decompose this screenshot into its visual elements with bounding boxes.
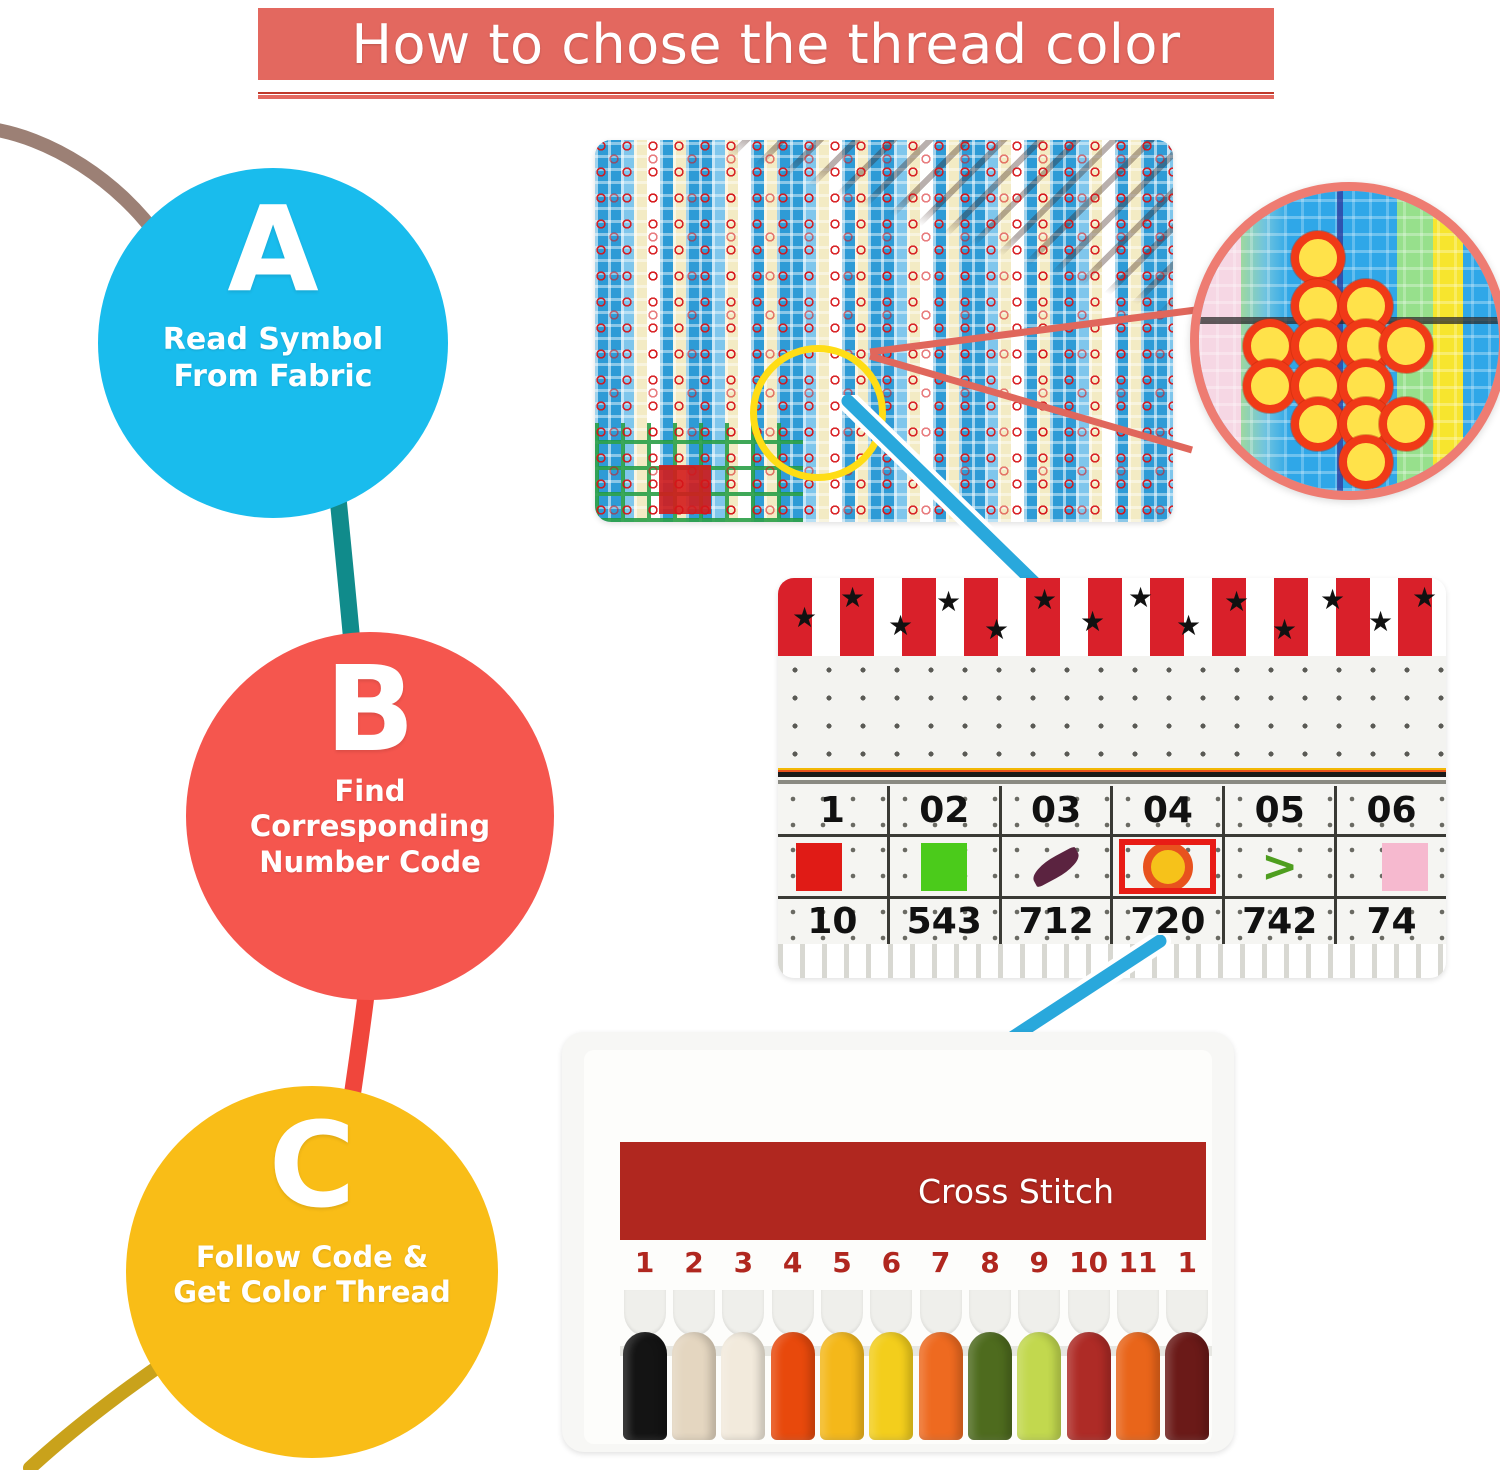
- step-c-label-line2: Get Color Thread: [173, 1275, 451, 1310]
- thread-number: 3: [719, 1246, 768, 1292]
- skein-body: [1017, 1332, 1061, 1440]
- magnifier-symbol-o-icon: [1291, 397, 1345, 451]
- step-b-label: Find Corresponding Number Code: [234, 774, 506, 880]
- star-icon: ★: [984, 616, 1009, 644]
- star-icon: ★: [1320, 586, 1345, 614]
- thread-skein[interactable]: [1163, 1332, 1212, 1440]
- chart-column[interactable]: 1 10: [778, 786, 890, 944]
- magnifier-symbol-o-icon: [1243, 359, 1297, 413]
- slot-hole-icon: [969, 1290, 1011, 1336]
- star-icon: ★: [936, 588, 961, 616]
- thread-skein[interactable]: [669, 1332, 718, 1440]
- thread-number: 11: [1113, 1246, 1162, 1292]
- thread-card-banner-label: Cross Stitch: [918, 1172, 1114, 1211]
- skein-body: [1116, 1332, 1160, 1440]
- star-icon: ★: [1032, 586, 1057, 614]
- chart-col-number: 05: [1225, 786, 1334, 837]
- star-icon: ★: [792, 604, 817, 632]
- thread-number: 9: [1015, 1246, 1064, 1292]
- slot-hole-icon: [624, 1290, 666, 1336]
- thread-skein[interactable]: [817, 1332, 866, 1440]
- chart-col-number: 1: [778, 786, 887, 837]
- skein-body: [623, 1332, 667, 1440]
- thread-skein[interactable]: [1113, 1332, 1162, 1440]
- magnifier-symbol-o-icon: [1339, 435, 1393, 489]
- color-code-chart-panel: ★ ★ ★ ★ ★ ★ ★ ★ ★ ★ ★ ★ ★ ★ 1 10 02 543: [778, 578, 1446, 978]
- thread-number-row: 1 2 3 4 5 6 7 8 9 10 11 1: [620, 1246, 1212, 1292]
- skein-body: [919, 1332, 963, 1440]
- thread-skein[interactable]: [867, 1332, 916, 1440]
- thread-number: 5: [817, 1246, 866, 1292]
- chart-col-symbol: >: [1225, 837, 1334, 899]
- chart-col-symbol: [1002, 837, 1111, 899]
- thread-card: Cross Stitch 1 2 3 4 5 6 7 8 9 10 11 1: [584, 1050, 1212, 1444]
- chart-column[interactable]: 06 74: [1337, 786, 1446, 944]
- thread-card-panel: Cross Stitch 1 2 3 4 5 6 7 8 9 10 11 1: [562, 1032, 1234, 1452]
- magnifier-bubble: [1190, 182, 1500, 500]
- color-swatch-icon: [1382, 843, 1428, 891]
- thread-skein[interactable]: [1015, 1332, 1064, 1440]
- color-swatch-icon: [921, 843, 967, 891]
- chart-col-symbol: [1113, 837, 1222, 899]
- thread-skein[interactable]: [768, 1332, 817, 1440]
- chart-col-symbol: [778, 837, 887, 899]
- chart-column[interactable]: 05 > 742: [1225, 786, 1337, 944]
- skein-body: [869, 1332, 913, 1440]
- step-a-label: Read Symbol From Fabric: [147, 322, 399, 395]
- thread-skein[interactable]: [1064, 1332, 1113, 1440]
- step-b-label-line1: Find: [250, 774, 490, 809]
- step-c-letter: C: [269, 1106, 356, 1224]
- thread-skein[interactable]: [916, 1332, 965, 1440]
- thread-number: 6: [867, 1246, 916, 1292]
- chart-col-symbol: [890, 837, 999, 899]
- star-icon: ★: [1272, 616, 1297, 644]
- thread-skein[interactable]: [965, 1332, 1014, 1440]
- chart-col-number: 06: [1337, 786, 1446, 837]
- star-icon: ★: [1224, 588, 1249, 616]
- skein-body: [672, 1332, 716, 1440]
- slot-hole-icon: [1068, 1290, 1110, 1336]
- step-a-label-line1: Read Symbol: [163, 322, 383, 359]
- step-circle-c[interactable]: C Follow Code & Get Color Thread: [126, 1086, 498, 1458]
- page-title-banner: How to chose the thread color: [258, 8, 1274, 80]
- skein-body: [771, 1332, 815, 1440]
- step-a-label-line2: From Fabric: [163, 359, 383, 396]
- thread-number: 1: [620, 1246, 669, 1292]
- chart-divider: [778, 768, 1446, 777]
- star-icon: ★: [1080, 608, 1105, 636]
- skein-body: [968, 1332, 1012, 1440]
- thread-number: 1: [1163, 1246, 1212, 1292]
- chart-divider-thin: [778, 780, 1446, 784]
- thread-number: 8: [965, 1246, 1014, 1292]
- thread-number: 7: [916, 1246, 965, 1292]
- chart-col-symbol: [1337, 837, 1446, 899]
- slot-hole-icon: [1166, 1290, 1208, 1336]
- skein-body: [1067, 1332, 1111, 1440]
- slot-hole-icon: [1117, 1290, 1159, 1336]
- skein-body: [1165, 1332, 1209, 1440]
- star-icon: ★: [1412, 584, 1437, 612]
- slot-hole-icon: [821, 1290, 863, 1336]
- star-icon: ★: [1128, 584, 1153, 612]
- chart-column[interactable]: 02 543: [890, 786, 1002, 944]
- page-title: How to chose the thread color: [351, 13, 1180, 76]
- star-icon: ★: [1176, 612, 1201, 640]
- slot-hole-icon: [673, 1290, 715, 1336]
- step-c-label-line1: Follow Code &: [173, 1240, 451, 1275]
- star-icon: ★: [840, 584, 865, 612]
- chart-column-highlighted[interactable]: 04 720: [1113, 786, 1225, 944]
- thread-number: 2: [669, 1246, 718, 1292]
- chart-col-code: 742: [1225, 899, 1334, 944]
- star-icon: ★: [1368, 608, 1393, 636]
- color-swatch-icon: [796, 843, 842, 891]
- step-b-label-line3: Number Code: [250, 845, 490, 880]
- chart-code-grid: 1 10 02 543 03 712 04 72: [778, 786, 1446, 944]
- chart-col-number: 04: [1113, 786, 1222, 837]
- slot-hole-icon: [920, 1290, 962, 1336]
- thread-skein[interactable]: [620, 1332, 669, 1440]
- selected-symbol-highlight-box: [1119, 839, 1216, 894]
- chart-blank-grid-area: [778, 656, 1446, 768]
- step-a-letter: A: [227, 190, 318, 308]
- magnifier-symbol-o-icon: [1379, 319, 1433, 373]
- step-circle-a[interactable]: A Read Symbol From Fabric: [98, 168, 448, 518]
- thread-number: 10: [1064, 1246, 1113, 1292]
- magnifier-symbol-o-icon: [1291, 231, 1345, 285]
- step-b-label-line2: Corresponding: [250, 809, 490, 844]
- chevron-symbol-icon: >: [1261, 845, 1298, 889]
- step-b-letter: B: [325, 650, 415, 768]
- thread-card-banner: Cross Stitch: [620, 1142, 1206, 1240]
- chart-col-number: 03: [1002, 786, 1111, 837]
- slot-hole-icon: [772, 1290, 814, 1336]
- step-c-label: Follow Code & Get Color Thread: [157, 1240, 467, 1311]
- thread-skein-row: [620, 1332, 1212, 1440]
- chart-column[interactable]: 03 712: [1002, 786, 1114, 944]
- step-circle-b[interactable]: B Find Corresponding Number Code: [186, 632, 554, 1000]
- slot-hole-icon: [1018, 1290, 1060, 1336]
- skein-body: [820, 1332, 864, 1440]
- leaf-symbol-icon: [1028, 846, 1083, 888]
- slot-hole-icon: [722, 1290, 764, 1336]
- thread-skein[interactable]: [719, 1332, 768, 1440]
- chart-star-border: ★ ★ ★ ★ ★ ★ ★ ★ ★ ★ ★ ★ ★ ★: [778, 578, 1446, 656]
- skein-body: [721, 1332, 765, 1440]
- star-icon: ★: [888, 612, 913, 640]
- chart-col-code: 74: [1337, 899, 1446, 944]
- title-underline: [258, 92, 1274, 99]
- thread-number: 4: [768, 1246, 817, 1292]
- magnifier-symbol-o-icon: [1379, 397, 1433, 451]
- chart-col-number: 02: [890, 786, 999, 837]
- slot-hole-icon: [870, 1290, 912, 1336]
